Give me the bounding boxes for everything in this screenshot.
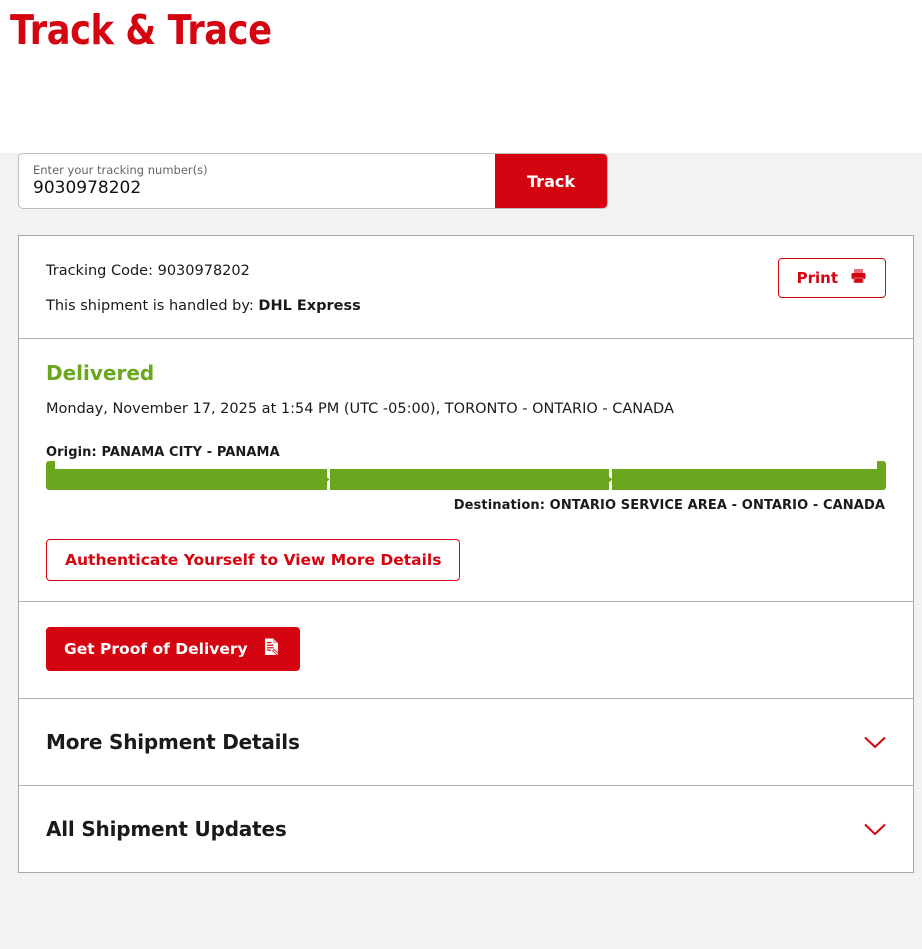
destination-row: Destination: ONTARIO SERVICE AREA - ONTA… [46,498,886,513]
document-certificate-icon [262,637,282,661]
progress-segment-3 [612,469,886,490]
printer-icon [850,268,867,288]
get-proof-of-delivery-label: Get Proof of Delivery [64,640,248,658]
authenticate-button[interactable]: Authenticate Yourself to View More Detai… [46,539,460,581]
shipment-header-text: Tracking Code: 9030978202 This shipment … [46,258,361,316]
chevron-down-icon[interactable] [864,823,886,836]
progress-cap-right [877,461,886,473]
accordion-more-shipment-details[interactable]: More Shipment Details [19,699,913,785]
tracking-code: Tracking Code: 9030978202 [46,261,361,281]
page-body: Enter your tracking number(s) Track Trac… [0,153,922,949]
accordion-more-shipment-details-label: More Shipment Details [46,730,300,754]
destination-label: Destination: ONTARIO SERVICE AREA - ONTA… [454,498,885,513]
tracking-search-field: Enter your tracking number(s) [19,154,495,208]
progress-bar [46,469,886,490]
shipment-status-section: Delivered Monday, November 17, 2025 at 1… [19,339,913,601]
page-header: Track & Trace [0,0,922,125]
handled-by: This shipment is handled by: DHL Express [46,296,361,316]
progress-segment-2 [330,469,610,490]
accordion-all-shipment-updates-label: All Shipment Updates [46,817,287,841]
chevron-down-icon[interactable] [864,736,886,749]
search-input-label: Enter your tracking number(s) [33,163,481,177]
handled-by-prefix: This shipment is handled by: [46,298,254,314]
progress-segment-1 [46,469,327,490]
page-title: Track & Trace [10,10,272,51]
proof-of-delivery-section: Get Proof of Delivery [19,602,913,698]
status-headline: Delivered [46,361,886,385]
get-proof-of-delivery-button[interactable]: Get Proof of Delivery [46,627,300,671]
shipment-header: Tracking Code: 9030978202 This shipment … [19,236,913,338]
shipment-progress: Origin: PANAMA CITY - PANAMA Destination… [46,445,886,513]
carrier-name: DHL Express [258,298,360,314]
shipment-result-card: Tracking Code: 9030978202 This shipment … [18,235,914,873]
search-input[interactable] [33,178,481,199]
track-button[interactable]: Track [495,154,607,208]
origin-label: Origin: PANAMA CITY - PANAMA [46,445,886,460]
print-button-label: Print [797,269,838,287]
tracking-search-bar: Enter your tracking number(s) Track [18,153,608,209]
status-detail: Monday, November 17, 2025 at 1:54 PM (UT… [46,399,886,419]
print-button[interactable]: Print [778,258,886,298]
accordion-all-shipment-updates[interactable]: All Shipment Updates [19,786,913,872]
